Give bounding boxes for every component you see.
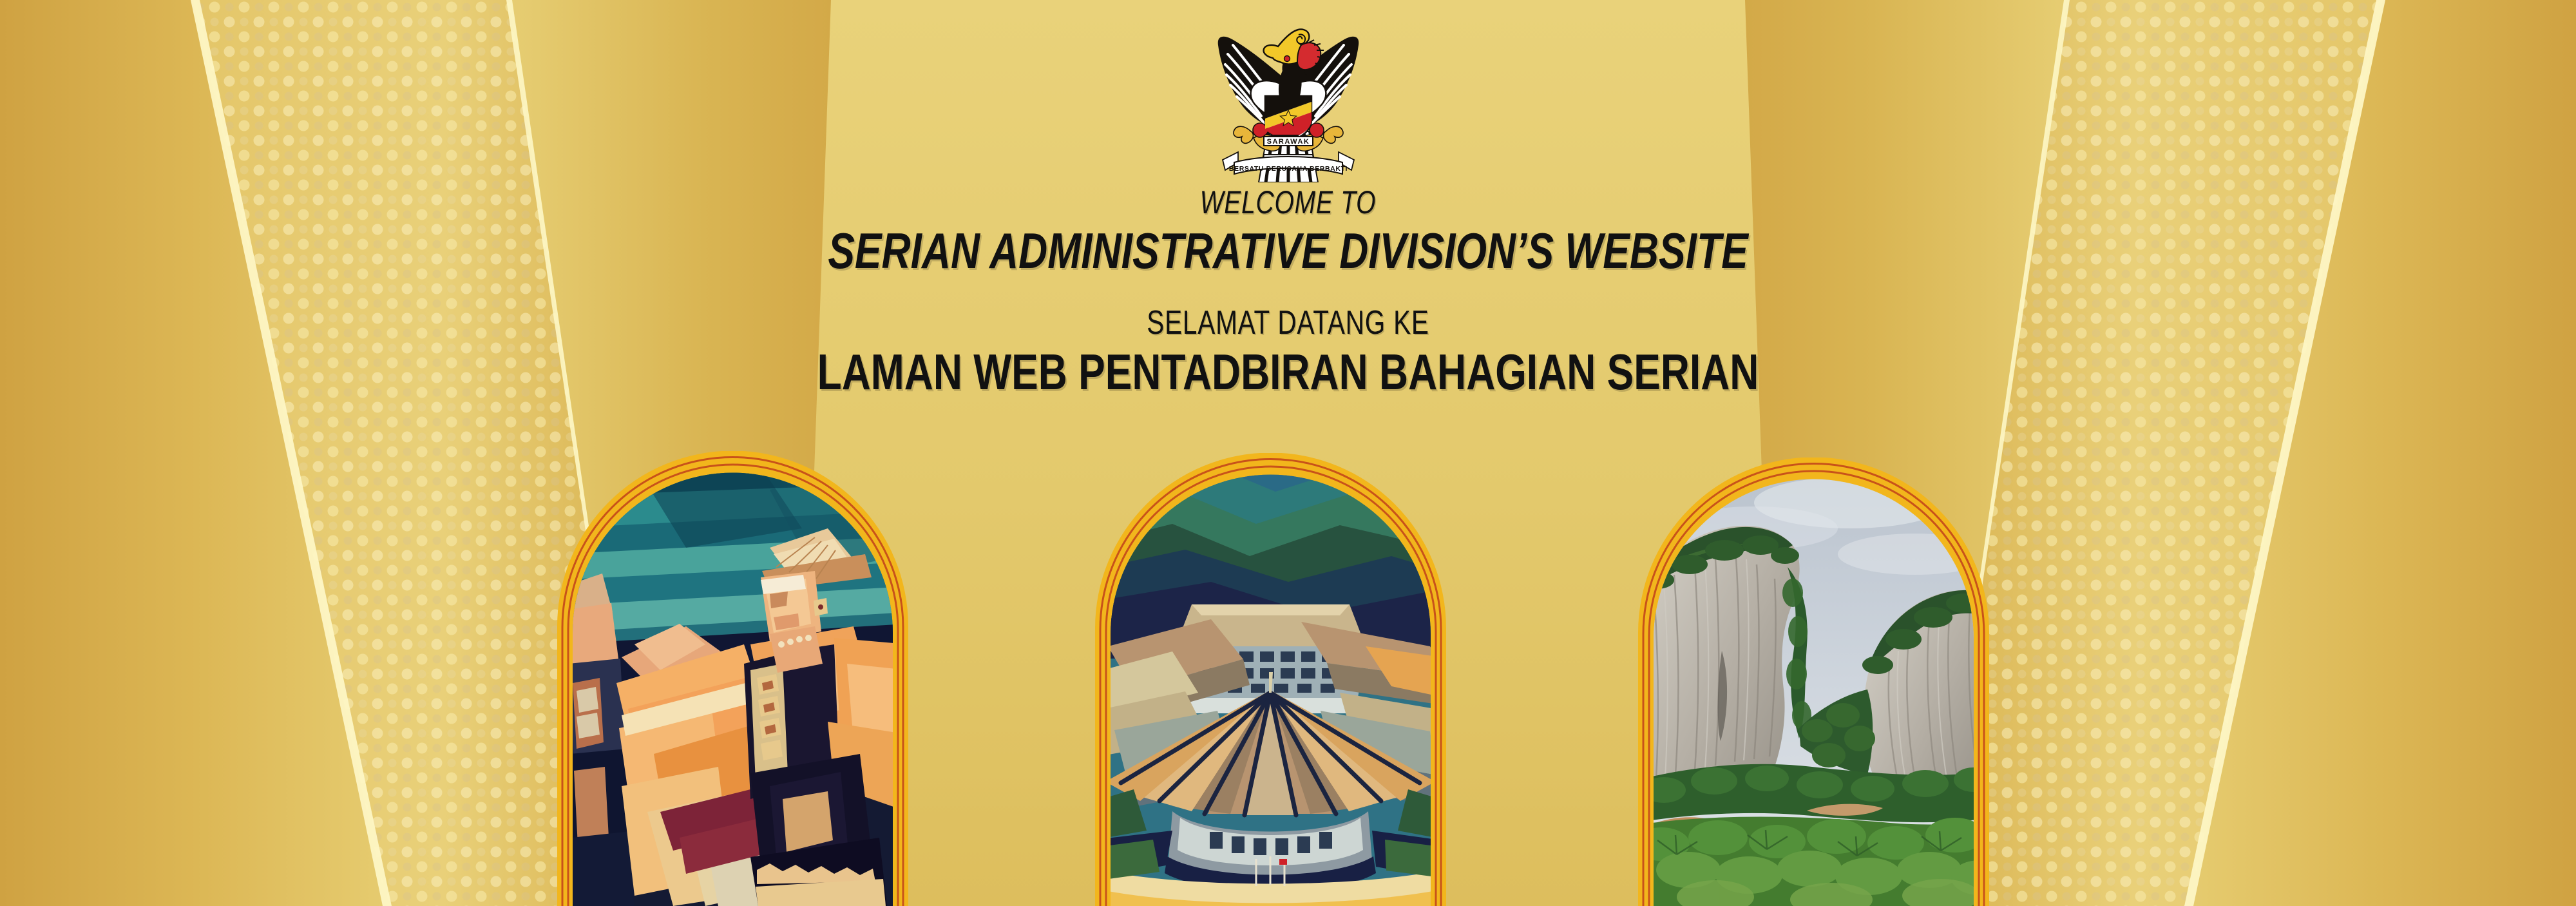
welcome-label-english: WELCOME TO xyxy=(283,186,2293,220)
crest-motto-text: BERSATU BERUSAHA BERBAKTI xyxy=(1228,165,1347,173)
background-edge-line-right-a xyxy=(2184,0,2385,906)
sarawak-crest-icon: SARAWAK xyxy=(1192,5,1385,182)
background-band-right-dotted xyxy=(1932,0,2380,906)
background-wedge-right-outer xyxy=(2183,0,2576,906)
arch-right-svg xyxy=(1638,458,1989,906)
arch-left-svg xyxy=(557,451,908,906)
arch-photo-cultural-dancers[interactable] xyxy=(557,451,908,906)
crest-shield-ribbon: SARAWAK xyxy=(1264,137,1313,146)
heading-block: WELCOME TO SERIAN ADMINISTRATIVE DIVISIO… xyxy=(0,186,2576,399)
arch-photo-administration-building[interactable] xyxy=(1095,453,1446,906)
background-dots-right xyxy=(1932,0,2380,906)
background-wedge-left-outer xyxy=(0,0,393,906)
background-edge-line-left-a xyxy=(191,0,392,906)
crest-shield-label: SARAWAK xyxy=(1266,138,1310,146)
page-title-english: SERIAN ADMINISTRATIVE DIVISION’S WEBSITE xyxy=(258,225,2318,278)
welcome-label-malay: SELAMAT DATANG KE xyxy=(283,305,2293,341)
arch-photo-limestone-hills[interactable] xyxy=(1638,458,1989,906)
arch-center-svg xyxy=(1095,453,1446,906)
sarawak-crest-svg: SARAWAK xyxy=(1192,5,1385,182)
page-title-malay: LAMAN WEB PENTADBIRAN BAHAGIAN SERIAN xyxy=(258,346,2318,399)
banner-root: SARAWAK xyxy=(0,0,2576,906)
